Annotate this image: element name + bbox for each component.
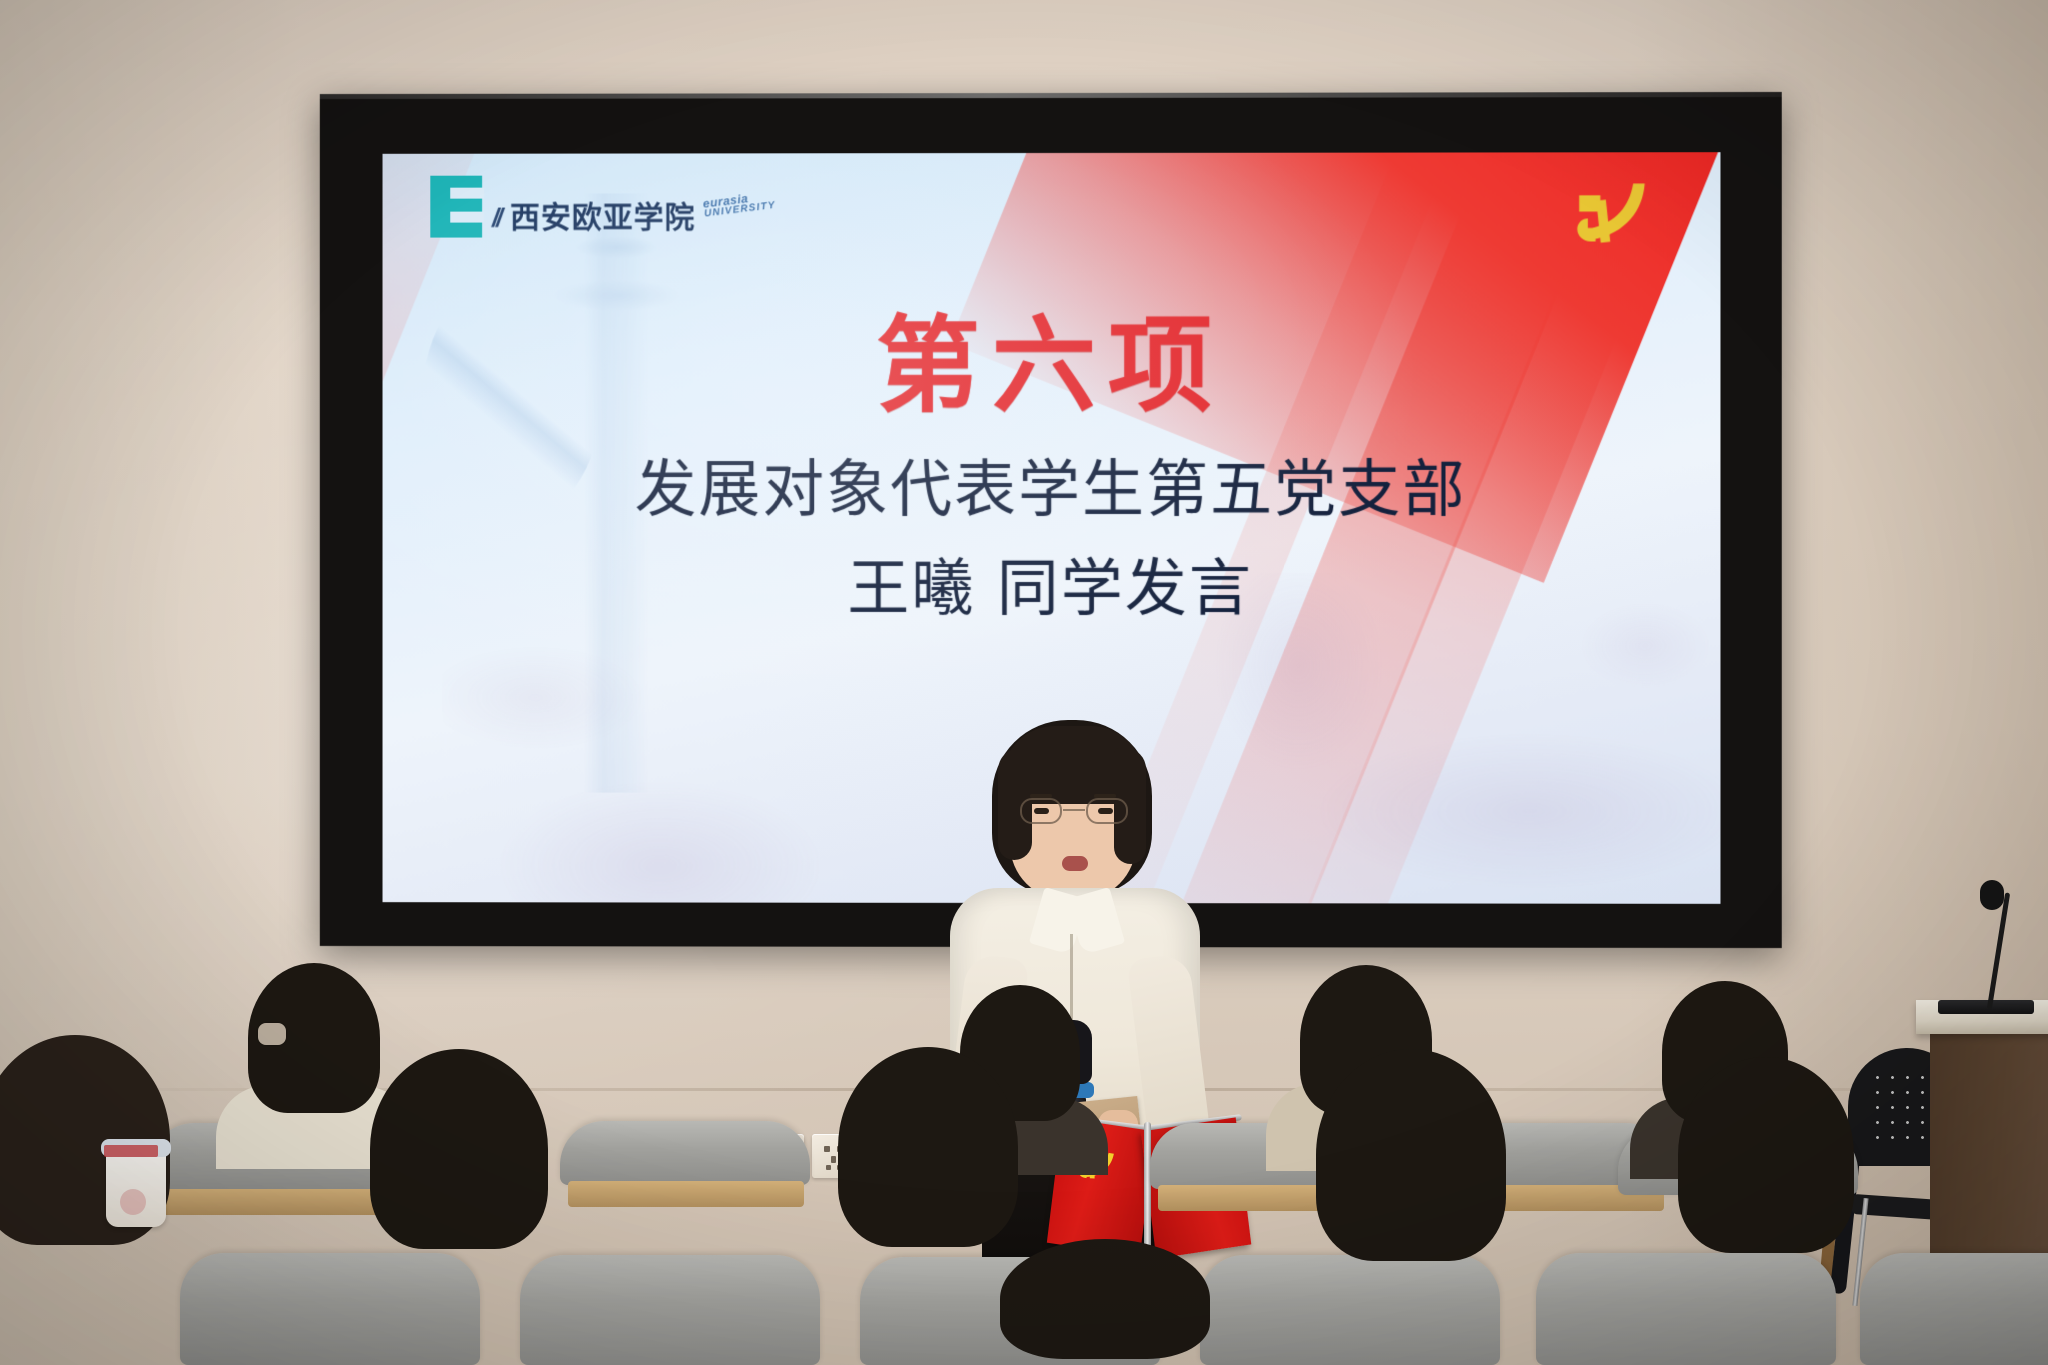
- seat-backrest: [1860, 1253, 2048, 1365]
- logo-english-name: eurasia UNIVERSITY: [702, 189, 776, 220]
- audience-seating-area: [0, 1035, 2048, 1365]
- eurasia-university-logo: // 西安欧亚学院 eurasia UNIVERSITY: [430, 175, 775, 237]
- cpc-hammer-sickle-emblem-icon: [1558, 168, 1662, 264]
- seat-backrest: [180, 1253, 480, 1365]
- audience-person-head: [1316, 1049, 1506, 1261]
- slide-title: 第六项: [383, 280, 1721, 432]
- eyeglasses-icon: [1020, 798, 1128, 824]
- audience-person-head: [370, 1049, 548, 1249]
- gooseneck-microphone-icon: [1980, 880, 2004, 910]
- seat-backrest: [520, 1255, 820, 1365]
- seat-backrest: [560, 1121, 810, 1185]
- seat-wood-trim: [568, 1181, 804, 1207]
- hair-clip: [258, 1023, 286, 1045]
- audience-person-head: [838, 1047, 1018, 1247]
- logo-e-mark-icon: [430, 176, 482, 238]
- coffee-cup-logo: [120, 1189, 146, 1215]
- seat-wood-trim: [158, 1189, 394, 1215]
- screenshot-root: // 西安欧亚学院 eurasia UNIVERSITY 第六项 发展对象代表学…: [0, 0, 2048, 1365]
- logo-chinese-name: 西安欧亚学院: [510, 192, 695, 236]
- seat-backrest: [1536, 1253, 1836, 1365]
- lectern-control-panel: [1938, 1000, 2034, 1014]
- seat-backrest: [1200, 1255, 1500, 1365]
- audience-person-head: [1678, 1057, 1854, 1253]
- logo-slashes-icon: //: [492, 205, 500, 234]
- audience-person-head: [1000, 1239, 1210, 1359]
- grand-theatre-watermark: [442, 608, 961, 904]
- slide-subtitle-line-2: 王曦 同学发言: [383, 538, 1721, 628]
- slide-subtitle-line-1: 发展对象代表学生第五党支部: [383, 439, 1721, 529]
- coffee-cup-band: [104, 1145, 158, 1157]
- coffee-cup: [106, 1149, 166, 1227]
- speaker-mouth: [1062, 856, 1088, 871]
- coffee-cup-lid: [101, 1139, 171, 1157]
